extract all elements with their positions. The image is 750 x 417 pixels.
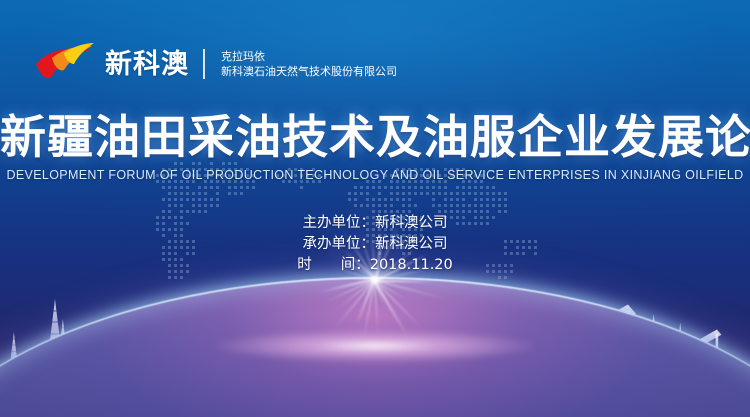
info-date: 时 间：2018.11.20 bbox=[297, 256, 453, 275]
horizon-flare bbox=[210, 329, 540, 363]
page-subtitle: DEVELOPMENT FORUM OF OIL PRODUCTION TECH… bbox=[0, 168, 750, 182]
info-host: 承办单位：新科澳公司 bbox=[303, 235, 448, 254]
brand-company: 新科澳石油天然气技术股份有限公司 bbox=[221, 65, 397, 78]
page-title: 新疆油田采油技术及油服企业发展论坛 bbox=[0, 110, 750, 164]
brand-location: 克拉玛依 bbox=[221, 50, 397, 63]
brand-logo: 新科澳 克拉玛依 新科澳石油天然气技术股份有限公司 bbox=[34, 42, 397, 86]
info-organizer: 主办单位：新科澳公司 bbox=[303, 214, 448, 233]
conference-poster: 新科澳 克拉玛依 新科澳石油天然气技术股份有限公司 新疆油田采油技术及油服企业发… bbox=[0, 0, 750, 417]
swoosh-wing-logo-icon bbox=[34, 42, 96, 86]
brand-name-cn: 新科澳 bbox=[105, 51, 189, 78]
brand-divider bbox=[203, 49, 205, 79]
event-info: 主办单位：新科澳公司 承办单位：新科澳公司 时 间：2018.11.20 bbox=[0, 214, 750, 275]
